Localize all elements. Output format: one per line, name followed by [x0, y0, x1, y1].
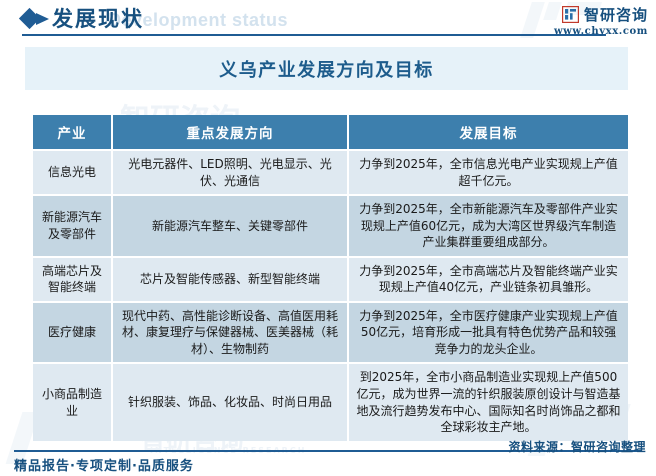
chyxx-logo-icon [562, 6, 579, 23]
column-header-direction: 重点发展方向 [113, 115, 347, 149]
diamond-tail-icon [36, 13, 49, 25]
footer-source: 资料来源：智研咨询整理 [508, 438, 646, 455]
page-title: 发展现状 [52, 3, 144, 33]
cell-industry: 信息光电 [33, 151, 111, 194]
table-row: 小商品制造业 针织服装、饰品、化妆品、时尚日用品 到2025年，全市小商品制造业… [33, 364, 628, 440]
cell-industry: 高端芯片及智能终端 [33, 258, 111, 301]
table-row: 医疗健康 现代中药、高性能诊断设备、高值医用耗材、康复理疗与保健器械、医美器械（… [33, 303, 628, 363]
brand-url: www.chyxx.com [554, 26, 648, 37]
column-header-industry: 产业 [33, 115, 111, 149]
industry-table-wrap: 产业 重点发展方向 发展目标 信息光电 光电元器件、LED照明、光电显示、光伏、… [31, 113, 630, 443]
table-header-row: 产业 重点发展方向 发展目标 [33, 115, 628, 149]
table-row: 高端芯片及智能终端 芯片及智能传感器、新型智能终端 力争到2025年，全市高端芯… [33, 258, 628, 301]
brand-name: 智研咨询 [584, 4, 648, 25]
cell-direction: 现代中药、高性能诊断设备、高值医用耗材、康复理疗与保健器械、医美器械（耗材）、生… [113, 303, 347, 363]
footer-tagline: 精品报告·专项定制·品质服务 [14, 455, 194, 474]
cell-goal: 力争到2025年，全市信息光电产业实现规上产值超千亿元。 [349, 151, 628, 194]
industry-table: 产业 重点发展方向 发展目标 信息光电 光电元器件、LED照明、光电显示、光伏、… [31, 113, 630, 443]
cell-direction: 光电元器件、LED照明、光电显示、光伏、光通信 [113, 151, 347, 194]
chart-title-band: 义乌产业发展方向及目标 [25, 47, 628, 90]
cell-goal: 力争到2025年，全市新能源汽车及零部件产业实现规上产值60亿元，成为大湾区世界… [349, 196, 628, 256]
column-header-goal: 发展目标 [349, 115, 628, 149]
cell-industry: 小商品制造业 [33, 364, 111, 440]
cell-goal: 力争到2025年，全市高端芯片及智能终端产业实现规上产值40亿元，产业链条初具雏… [349, 258, 628, 301]
cell-direction: 针织服装、饰品、化妆品、时尚日用品 [113, 364, 347, 440]
cell-industry: 新能源汽车及零部件 [33, 196, 111, 256]
table-row: 新能源汽车及零部件 新能源汽车整车、关键零部件 力争到2025年，全市新能源汽车… [33, 196, 628, 256]
cell-industry: 医疗健康 [33, 303, 111, 363]
cell-direction: 芯片及智能传感器、新型智能终端 [113, 258, 347, 301]
brand-block: 智研咨询 www.chyxx.com [554, 4, 648, 37]
chart-title: 义乌产业发展方向及目标 [219, 56, 434, 82]
table-row: 信息光电 光电元器件、LED照明、光电显示、光伏、光通信 力争到2025年，全市… [33, 151, 628, 194]
cell-goal: 到2025年，全市小商品制造业实现规上产值500亿元，成为世界一流的针织服装原创… [349, 364, 628, 440]
header-divider [22, 34, 606, 36]
cell-direction: 新能源汽车整车、关键零部件 [113, 196, 347, 256]
cell-goal: 力争到2025年，全市医疗健康产业实现规上产值50亿元，培育形成一批具有特色优势… [349, 303, 628, 363]
